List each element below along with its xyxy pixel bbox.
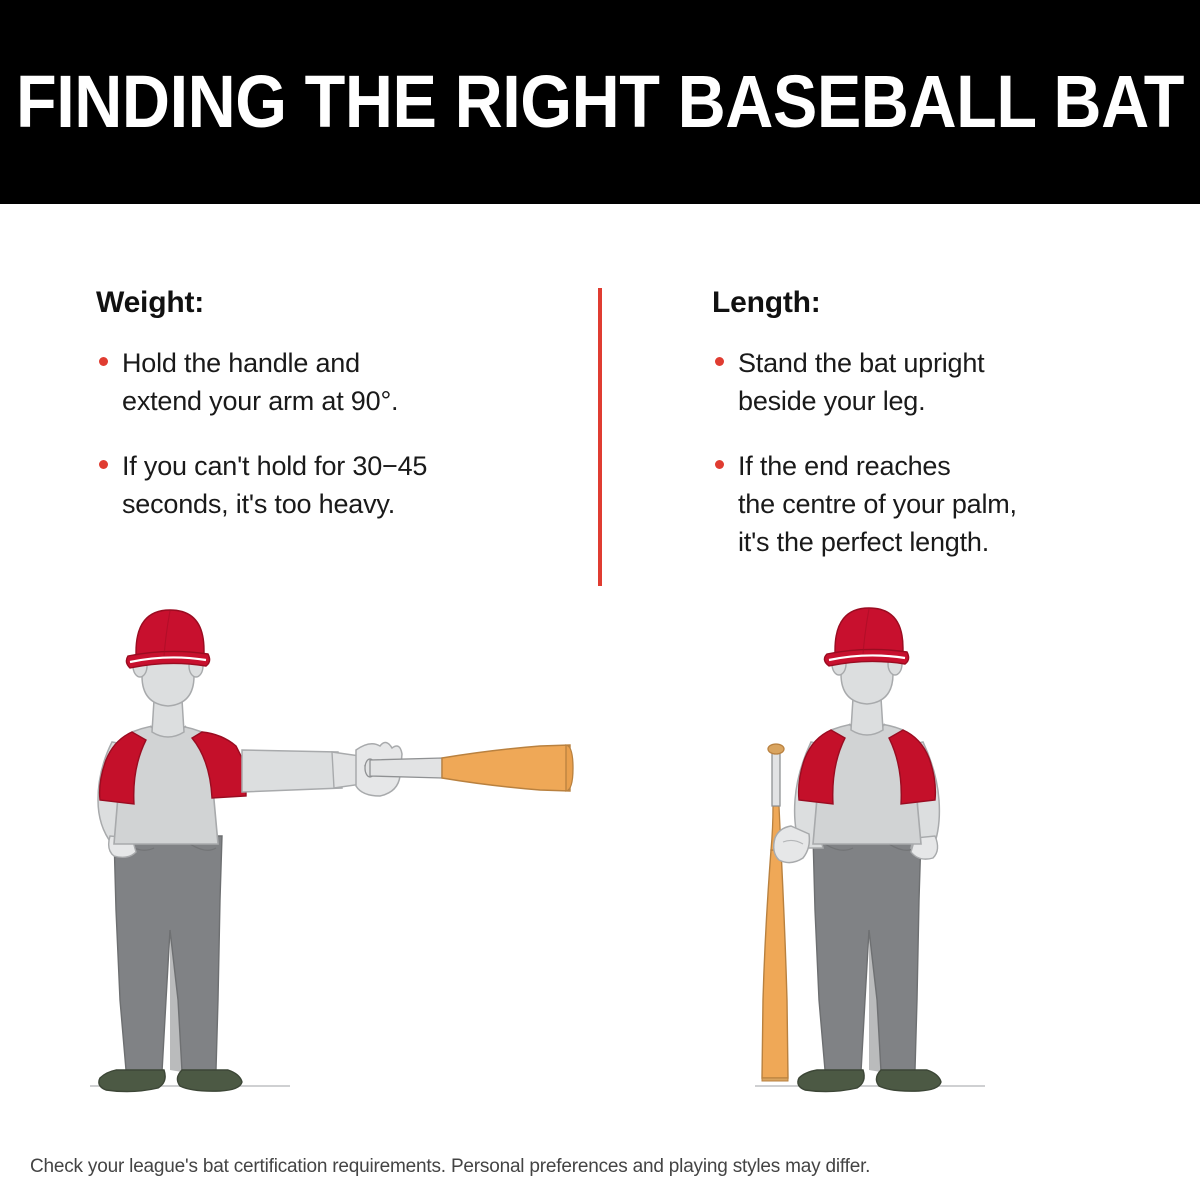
baseball-bat-vertical [762,744,788,1081]
heading-length: Length: [712,288,821,318]
bullet-line: it's the perfect length. [738,523,1132,561]
footer-note: Check your league's bat certification re… [30,1156,870,1178]
bullet-dot-icon [715,357,724,366]
bullet-item: Stand the bat upright beside your leg. [712,344,1132,421]
bullet-list-weight: Hold the handle and extend your arm at 9… [96,344,566,549]
page-title: FINDING THE RIGHT BASEBALL BAT [60,0,1140,204]
bullet-line: the centre of your palm, [738,485,1132,523]
pants [114,836,222,1072]
bullet-item: If you can't hold for 30−45 seconds, it'… [96,447,566,524]
baseball-cap [824,608,908,666]
bullet-item: If the end reaches the centre of your pa… [712,447,1132,562]
bullet-line: Hold the handle and [122,344,566,382]
shoes [798,1070,941,1092]
bullet-line: beside your leg. [738,382,1132,420]
pants [813,836,921,1072]
infographic-page: FINDING THE RIGHT BASEBALL BAT Weight: H… [0,0,1200,1200]
bullet-dot-icon [99,357,108,366]
column-divider [598,288,602,586]
bullet-list-length: Stand the bat upright beside your leg. I… [712,344,1132,588]
shoes [99,1070,242,1092]
bullet-item: Hold the handle and extend your arm at 9… [96,344,566,421]
illustration-length-figure [735,600,1035,1100]
header-bar: FINDING THE RIGHT BASEBALL BAT [0,0,1200,204]
bullet-dot-icon [715,460,724,469]
footer-bar: Check your league's bat certification re… [0,1150,1200,1200]
bullet-line: extend your arm at 90°. [122,382,566,420]
extended-arm [242,750,362,792]
illustration-area [0,600,1200,1120]
bullet-line: Stand the bat upright [738,344,1132,382]
bullet-dot-icon [99,460,108,469]
baseball-cap [126,610,209,668]
bullet-line: seconds, it's too heavy. [122,485,566,523]
bullet-line: If the end reaches [738,447,1132,485]
illustration-weight-figure [70,600,630,1100]
bullet-line: If you can't hold for 30−45 [122,447,566,485]
heading-weight: Weight: [96,288,204,318]
